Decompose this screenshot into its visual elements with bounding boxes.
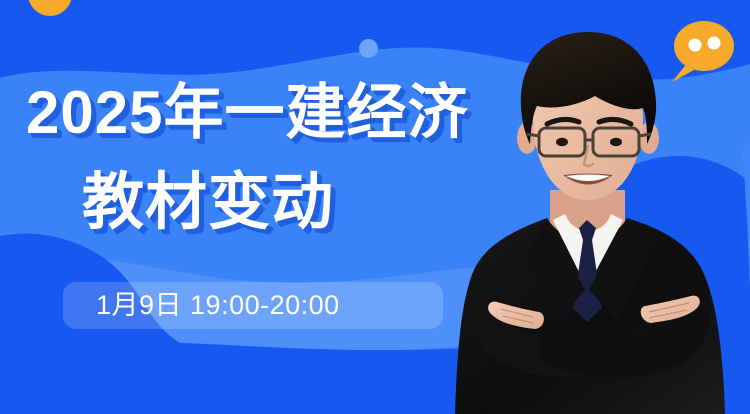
eye-right xyxy=(610,138,622,146)
promo-poster: 2025年一建经济 教材变动 1月9日 19:00-20:00 xyxy=(0,0,750,414)
eye-left xyxy=(556,138,568,146)
light-blue-circle-icon xyxy=(359,39,378,58)
schedule-text: 1月9日 19:00-20:00 xyxy=(96,284,340,327)
instructor-portrait xyxy=(435,22,750,414)
